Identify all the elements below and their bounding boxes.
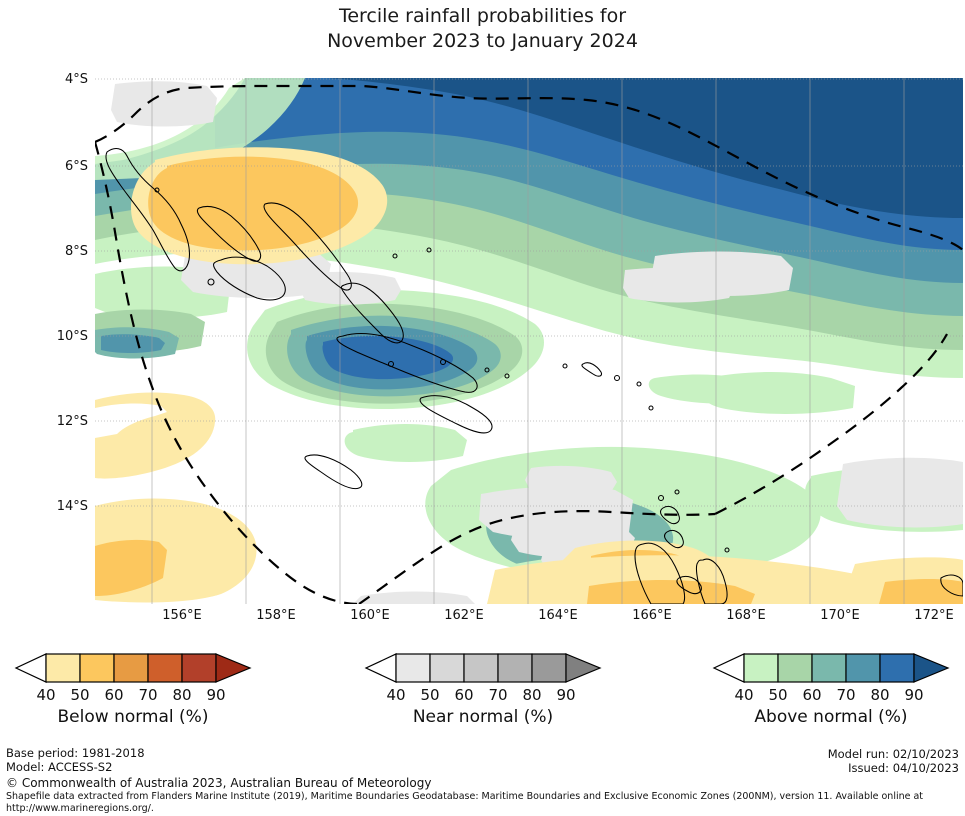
colorbar-above-normal[interactable]: 40 50 60 70 80 90 Above normal (%) xyxy=(706,652,956,727)
above-normal-under-arrow xyxy=(714,654,744,682)
y-tick-0: 4°S xyxy=(40,72,88,87)
near-tick-50: 50 xyxy=(413,686,447,704)
colorbar-above-normal-swatches xyxy=(706,652,956,684)
map-canvas xyxy=(95,78,963,604)
y-tick-3: 10°S xyxy=(40,329,88,344)
above-tick-60: 60 xyxy=(795,686,829,704)
base-period-text: Base period: 1981-2018 xyxy=(6,747,145,761)
below-tick-40: 40 xyxy=(29,686,63,704)
model-run-text: Model run: 02/10/2023 xyxy=(828,748,959,762)
issued-text: Issued: 04/10/2023 xyxy=(828,762,959,776)
x-tick-7: 170°E xyxy=(810,608,870,623)
footer-right: Model run: 02/10/2023 Issued: 04/10/2023 xyxy=(828,748,959,775)
below-normal-under-arrow xyxy=(16,654,46,682)
above-tick-90: 90 xyxy=(897,686,931,704)
x-tick-0: 156°E xyxy=(152,608,212,623)
below-normal-over-arrow xyxy=(216,654,250,682)
colorbar-near-normal-swatches xyxy=(358,652,608,684)
near-tick-60: 60 xyxy=(447,686,481,704)
shapefile-attribution: Shapefile data extracted from Flanders M… xyxy=(6,791,956,814)
near-tick-40: 40 xyxy=(379,686,413,704)
copyright-text: © Commonwealth of Australia 2023, Austra… xyxy=(6,776,431,790)
colorbar-below-normal-swatches xyxy=(8,652,258,684)
near-tick-90: 90 xyxy=(549,686,583,704)
x-tick-5: 166°E xyxy=(622,608,682,623)
x-tick-4: 164°E xyxy=(528,608,588,623)
colorbar-above-normal-ticks: 40 50 60 70 80 90 xyxy=(706,684,956,706)
above-normal-over-arrow xyxy=(914,654,948,682)
above-tick-40: 40 xyxy=(727,686,761,704)
below-tick-80: 80 xyxy=(165,686,199,704)
y-tick-1: 6°S xyxy=(40,159,88,174)
colorbar-near-normal-title: Near normal (%) xyxy=(358,707,608,727)
colorbar-below-normal-ticks: 40 50 60 70 80 90 xyxy=(8,684,258,706)
y-tick-2: 8°S xyxy=(40,244,88,259)
title-line-1: Tercile rainfall probabilities for xyxy=(0,4,965,29)
colorbar-below-normal[interactable]: 40 50 60 70 80 90 Below normal (%) xyxy=(8,652,258,727)
x-tick-6: 168°E xyxy=(716,608,776,623)
shapefile-line-1: Shapefile data extracted from Flanders M… xyxy=(6,791,956,803)
title-line-2: November 2023 to January 2024 xyxy=(0,29,965,54)
above-tick-70: 70 xyxy=(829,686,863,704)
y-tick-5: 14°S xyxy=(40,499,88,514)
below-tick-90: 90 xyxy=(199,686,233,704)
shapefile-line-2: http://www.marineregions.org/. xyxy=(6,803,956,815)
above-tick-50: 50 xyxy=(761,686,795,704)
model-text: Model: ACCESS-S2 xyxy=(6,761,145,775)
x-tick-1: 158°E xyxy=(246,608,306,623)
near-normal-under-arrow xyxy=(366,654,396,682)
colorbar-near-normal-ticks: 40 50 60 70 80 90 xyxy=(358,684,608,706)
y-tick-4: 12°S xyxy=(40,414,88,429)
colorbar-below-normal-title: Below normal (%) xyxy=(8,707,258,727)
below-tick-60: 60 xyxy=(97,686,131,704)
x-tick-8: 172°E xyxy=(904,608,964,623)
below-tick-50: 50 xyxy=(63,686,97,704)
near-tick-80: 80 xyxy=(515,686,549,704)
above-tick-80: 80 xyxy=(863,686,897,704)
x-tick-3: 162°E xyxy=(434,608,494,623)
near-tick-70: 70 xyxy=(481,686,515,704)
x-tick-2: 160°E xyxy=(340,608,400,623)
colorbar-near-normal[interactable]: 40 50 60 70 80 90 Near normal (%) xyxy=(358,652,608,727)
page-title: Tercile rainfall probabilities for Novem… xyxy=(0,4,965,54)
footer-left: Base period: 1981-2018 Model: ACCESS-S2 xyxy=(6,747,145,774)
near-normal-over-arrow xyxy=(566,654,600,682)
colorbar-above-normal-title: Above normal (%) xyxy=(706,707,956,727)
below-tick-70: 70 xyxy=(131,686,165,704)
tercile-probability-map[interactable] xyxy=(95,78,963,604)
